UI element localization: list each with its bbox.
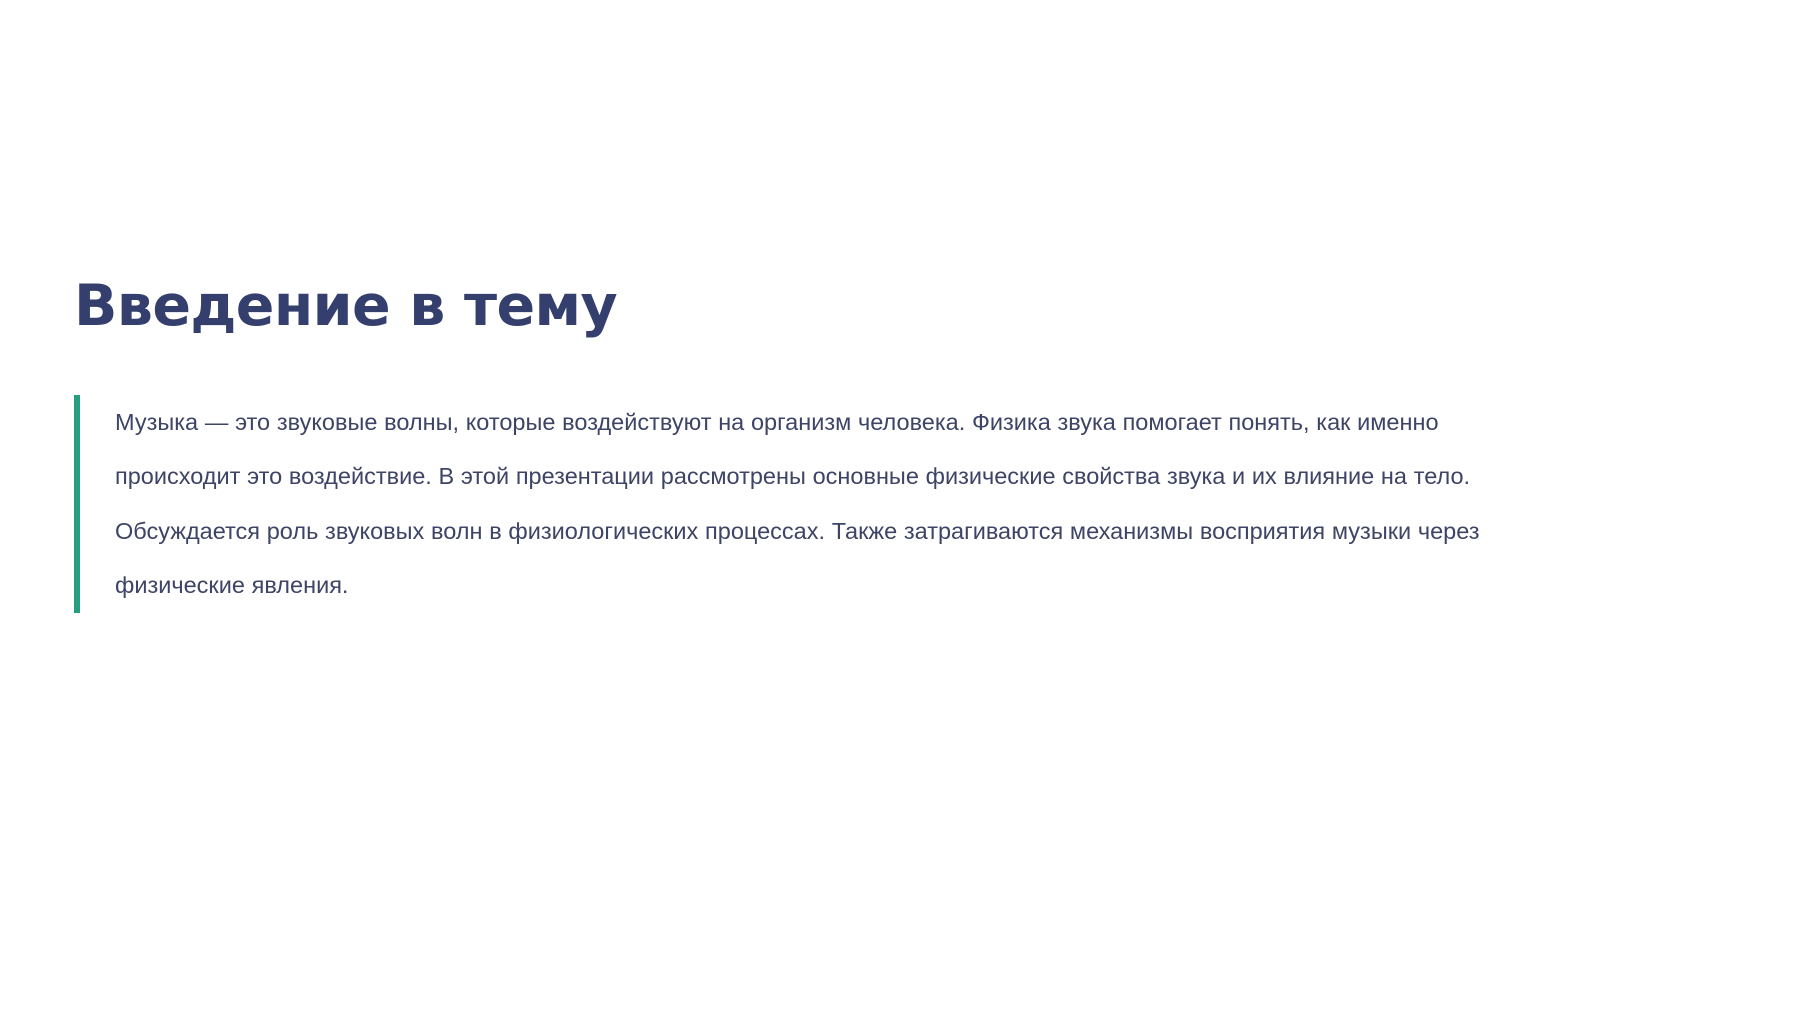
body-text-block: Музыка — это звуковые волны, которые воз… bbox=[74, 395, 1534, 613]
page-title: Введение в тему bbox=[74, 276, 1534, 338]
slide-content: Введение в тему Музыка — это звуковые во… bbox=[74, 276, 1534, 613]
accent-bar bbox=[74, 395, 80, 613]
body-paragraph: Музыка — это звуковые волны, которые воз… bbox=[115, 395, 1515, 613]
presentation-slide: Введение в тему Музыка — это звуковые во… bbox=[0, 0, 1800, 1013]
